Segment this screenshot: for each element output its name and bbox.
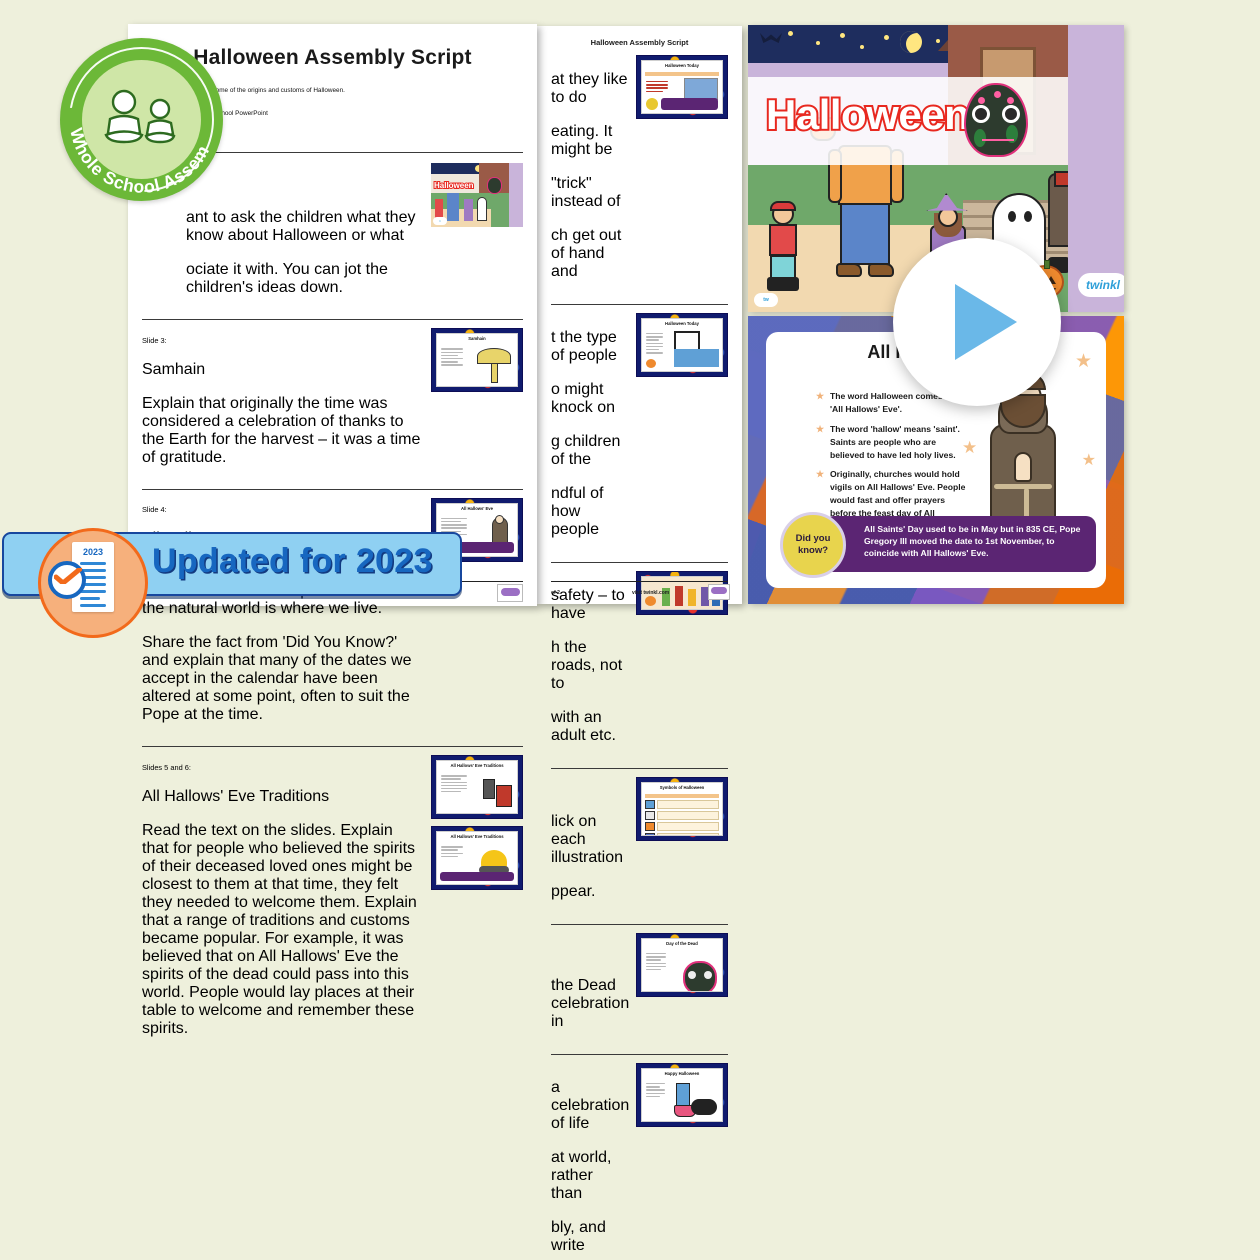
section-heading: Slide 4: bbox=[142, 505, 423, 514]
star-icon bbox=[840, 33, 845, 38]
thumb-title: Symbols of Halloween bbox=[642, 786, 722, 790]
page2-footer-page: of 2 bbox=[551, 590, 560, 596]
play-triangle-icon bbox=[955, 284, 1017, 360]
twinkl-brand-logo: twinkl bbox=[1078, 273, 1124, 297]
page2-section-text: the Dead celebration in bbox=[551, 933, 628, 1047]
page2-line: ppear. bbox=[551, 883, 628, 901]
badge-label: Whole School Assembly bbox=[54, 22, 213, 197]
page2-section-text: at they like to do eating. It might be "… bbox=[551, 55, 628, 297]
thumb-title: Halloween bbox=[434, 181, 474, 190]
page1-section-row: Slide 3: Samhain Explain that originally… bbox=[128, 328, 537, 482]
slide-thumbnail-traditions-2[interactable]: All Hallows' Eve Traditions bbox=[431, 826, 523, 890]
page1-section-text: Slide 3: Samhain Explain that originally… bbox=[142, 328, 423, 482]
ribbon-label: Updated for 2023 bbox=[152, 542, 452, 581]
page1-section-row: Slides 5 and 6: All Hallows' Eve Traditi… bbox=[128, 755, 537, 1053]
page2-section-text: t the type of people o might knock on g … bbox=[551, 313, 628, 555]
page2-line: at world, rather than bbox=[551, 1149, 628, 1203]
slide-thumbnail-samhain[interactable]: Samhain bbox=[431, 328, 523, 392]
badge-arc-text: Whole School Assembly bbox=[60, 38, 223, 201]
slide-thumbnail[interactable]: Happy Halloween bbox=[636, 1063, 728, 1127]
page2-line: at they like to do bbox=[551, 71, 628, 107]
star-icon bbox=[816, 41, 820, 45]
page2-line: o might knock on bbox=[551, 381, 628, 417]
page2-line: "trick" instead of bbox=[551, 175, 628, 211]
twinkl-logo-icon bbox=[708, 584, 730, 600]
slide-thumbnail-traditions-1[interactable]: All Hallows' Eve Traditions bbox=[431, 755, 523, 819]
thumb-title: All Hallows' Eve Traditions bbox=[437, 835, 517, 839]
thumb-title: Day of the Dead bbox=[642, 942, 722, 946]
did-you-know-badge: Did you know? bbox=[780, 512, 846, 578]
intro-line: nal) bbox=[200, 135, 523, 144]
section-line: ant to ask the children what they know a… bbox=[186, 209, 423, 245]
slide-thumbnail[interactable]: Halloween Today bbox=[636, 313, 728, 377]
section-heading: Slide 3: bbox=[142, 336, 423, 345]
intro-line: s bbox=[200, 122, 523, 131]
page2-section-row: the Dead celebration in Day of the Dead bbox=[537, 933, 742, 1047]
star-icon: ★ bbox=[1082, 450, 1096, 470]
twinkl-logo-icon: t bbox=[433, 217, 447, 225]
page2-line: with an adult etc. bbox=[551, 709, 628, 745]
page2-header: Halloween Assembly Script bbox=[537, 38, 742, 47]
section-paragraph: Read the text on the slides. Explain tha… bbox=[142, 822, 423, 1038]
page1-section-text: Slides 5 and 6: All Hallows' Eve Traditi… bbox=[142, 755, 423, 1053]
thumb-title: Samhain bbox=[437, 337, 517, 341]
section-subheading: All Hallows' Eve Traditions bbox=[142, 788, 423, 806]
bullet-item: The word 'hallow' means 'saint'. Saints … bbox=[816, 423, 966, 462]
page2-section-text: safety – to have h the roads, not to wit… bbox=[551, 571, 628, 761]
thumb-title: Halloween Today bbox=[642, 64, 722, 68]
section-heading: Slides 5 and 6: bbox=[142, 763, 423, 772]
page2-line: h the roads, not to bbox=[551, 639, 628, 693]
section-subheading: Samhain bbox=[142, 361, 423, 379]
page2-line: a celebration of life bbox=[551, 1079, 628, 1133]
page2-line: safety – to have bbox=[551, 587, 628, 623]
page2-footer-site: visit twinkl.com bbox=[632, 590, 669, 596]
slide-title: Halloween bbox=[766, 91, 969, 139]
twinkl-logo-icon bbox=[497, 584, 523, 602]
slide-thumbnail-halloween[interactable]: Halloween t bbox=[431, 163, 523, 227]
star-icon bbox=[936, 39, 940, 43]
ribbon-year: 2023 bbox=[72, 547, 114, 557]
page2-section-text: a celebration of life at world, rather t… bbox=[551, 1063, 628, 1260]
thumb-title: All Hallows' Eve Traditions bbox=[437, 764, 517, 768]
intro-line: hole School PowerPoint bbox=[200, 109, 523, 118]
section-paragraph: Explain that originally the time was con… bbox=[142, 395, 423, 467]
page2-section-row: t the type of people o might knock on g … bbox=[537, 313, 742, 555]
page2-line: eating. It might be bbox=[551, 123, 628, 159]
star-icon bbox=[788, 31, 793, 36]
svg-text:Whole School Assembly: Whole School Assembly bbox=[54, 22, 213, 197]
thumb-title: Halloween Today bbox=[642, 322, 722, 326]
page2-line: ch get out of hand and bbox=[551, 227, 628, 281]
play-button[interactable] bbox=[893, 238, 1061, 406]
slide-thumbnail[interactable]: Day of the Dead bbox=[636, 933, 728, 997]
section-paragraph: Share the fact from 'Did You Know?' and … bbox=[142, 634, 423, 724]
slide-thumbnail[interactable]: Symbols of Halloween bbox=[636, 777, 728, 841]
slide-thumbnail[interactable]: Halloween Today bbox=[636, 55, 728, 119]
check-tick-icon bbox=[54, 568, 82, 584]
page2-section-text: lick on each illustration ppear. bbox=[551, 777, 628, 917]
page2-section-row: lick on each illustration ppear. Symbols… bbox=[537, 777, 742, 917]
page2-line: ndful of how people bbox=[551, 485, 628, 539]
page2-section-row: a celebration of life at world, rather t… bbox=[537, 1063, 742, 1260]
page2-line: g children of the bbox=[551, 433, 628, 469]
pirate-child bbox=[764, 203, 804, 291]
screenshot-canvas: Halloween Assembly Script at they like t… bbox=[0, 0, 1260, 630]
section-line: ociate it with. You can jot the children… bbox=[186, 261, 423, 297]
sugar-skull-icon bbox=[964, 83, 1028, 157]
page2-line: lick on each illustration bbox=[551, 813, 628, 867]
thumb-title: Happy Halloween bbox=[642, 1072, 722, 1076]
page2-line: t the type of people bbox=[551, 329, 628, 365]
document-page-2[interactable]: Halloween Assembly Script at they like t… bbox=[537, 26, 742, 604]
slide-thumbnail-group: All Hallows' Eve Traditions All Hallows'… bbox=[431, 755, 523, 890]
star-icon: ★ bbox=[962, 438, 977, 458]
twinkl-logo-icon: tw bbox=[754, 293, 778, 307]
moon-icon bbox=[900, 31, 922, 53]
did-you-know-fact: All Saints' Day used to be in May but in… bbox=[824, 516, 1096, 572]
star-icon: ★ bbox=[1075, 350, 1092, 373]
star-icon bbox=[860, 45, 864, 49]
page2-line: the Dead celebration in bbox=[551, 977, 628, 1031]
page2-line: bly, and write bbox=[551, 1219, 628, 1255]
star-icon bbox=[884, 35, 889, 40]
updated-for-2023-badge: Updated for 2023 2023 bbox=[2, 528, 462, 600]
whole-school-assembly-badge: Whole School Assembly bbox=[60, 38, 223, 201]
adult-figure bbox=[830, 145, 902, 293]
thumb-title: All Hallows' Eve bbox=[437, 507, 517, 511]
page2-section-row: at they like to do eating. It might be "… bbox=[537, 55, 742, 297]
intro-line: and some of the origins and customs of H… bbox=[200, 86, 523, 95]
